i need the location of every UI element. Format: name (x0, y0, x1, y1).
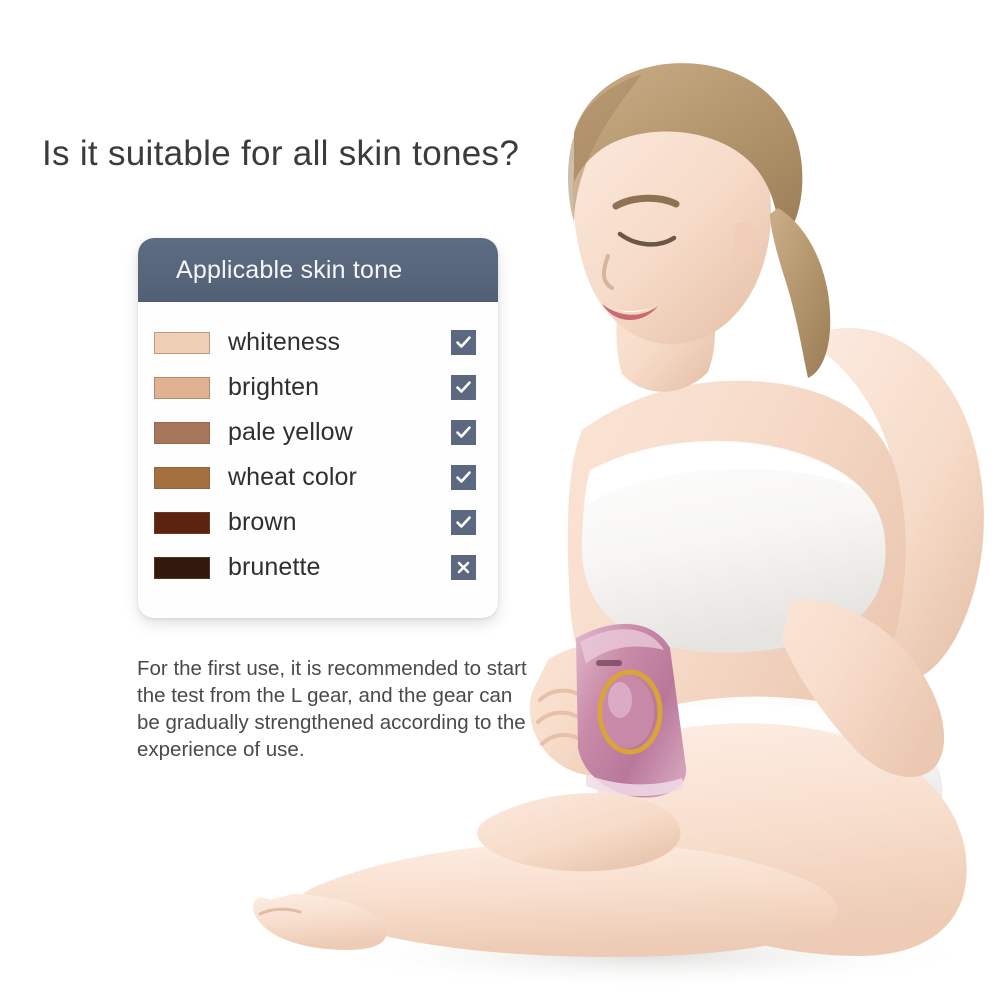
tone-swatch (154, 332, 210, 354)
list-item[interactable]: brighten (138, 365, 498, 410)
check-icon[interactable] (451, 330, 476, 355)
skin-tone-list: whiteness brighten (138, 302, 498, 618)
tone-swatch (154, 377, 210, 399)
tone-label: brunette (228, 553, 451, 582)
card-header: Applicable skin tone (138, 238, 498, 302)
page-root: Is it suitable for all skin tones? Appli… (0, 0, 1000, 1000)
check-icon[interactable] (451, 465, 476, 490)
tone-swatch (154, 557, 210, 579)
applicable-skin-tone-card: Applicable skin tone whiteness brighten (138, 238, 498, 618)
list-item[interactable]: wheat color (138, 455, 498, 500)
list-item[interactable]: brunette (138, 545, 498, 590)
check-icon[interactable] (451, 375, 476, 400)
page-title: Is it suitable for all skin tones? (42, 134, 519, 174)
tone-swatch (154, 512, 210, 534)
tone-label: wheat color (228, 463, 451, 492)
tone-label: brown (228, 508, 451, 537)
list-item[interactable]: whiteness (138, 320, 498, 365)
card-header-title: Applicable skin tone (176, 256, 402, 285)
tone-label: whiteness (228, 328, 451, 357)
usage-note: For the first use, it is recommended to … (137, 655, 529, 763)
tone-label: pale yellow (228, 418, 451, 447)
tone-label: brighten (228, 373, 451, 402)
list-item[interactable]: brown (138, 500, 498, 545)
check-icon[interactable] (451, 420, 476, 445)
check-icon[interactable] (451, 510, 476, 535)
tone-swatch (154, 422, 210, 444)
ipl-hair-removal-device (576, 624, 686, 798)
tone-swatch (154, 467, 210, 489)
cross-icon[interactable] (451, 555, 476, 580)
list-item[interactable]: pale yellow (138, 410, 498, 455)
